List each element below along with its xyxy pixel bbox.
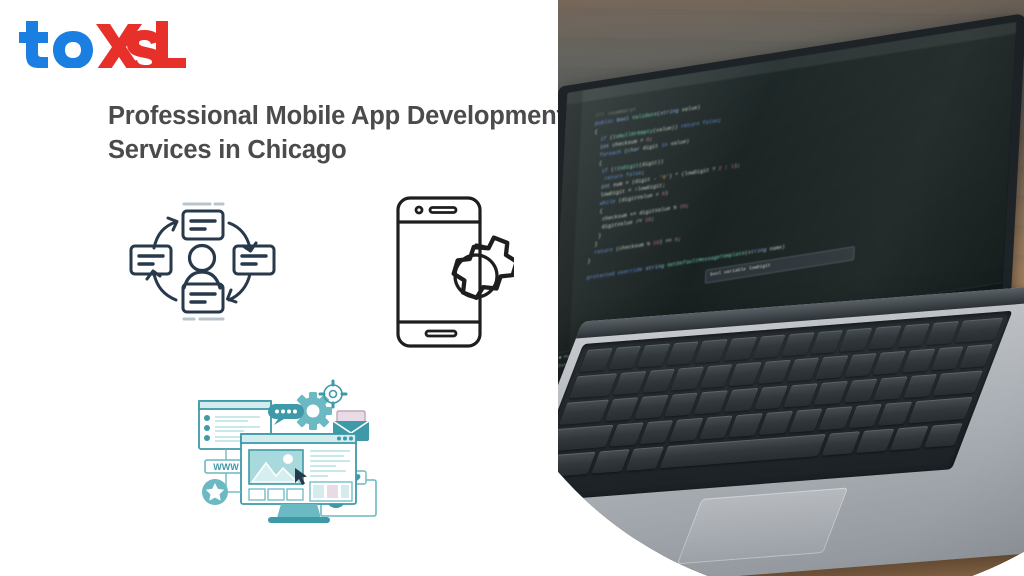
user-feedback-cycle-icon: [126, 196, 278, 324]
page-title-line-2: Services in Chicago: [108, 134, 628, 168]
laptop-device: /// <summary> public bool Validate(strin…: [558, 6, 1024, 576]
key: [878, 402, 912, 426]
key: [890, 426, 929, 451]
cycle-card-top: [183, 211, 223, 239]
keyboard[interactable]: [558, 311, 1013, 503]
key: [558, 425, 614, 452]
cycle-arrow-bottom-right: [228, 274, 251, 302]
toxsl-logo[interactable]: [18, 14, 190, 66]
key: [591, 449, 630, 474]
trackpad[interactable]: [677, 487, 848, 564]
laptop-keyboard-deck: [558, 273, 1024, 576]
cycle-arrow-top-left: [154, 218, 177, 248]
key: [558, 452, 596, 478]
cycle-arrow-top-right: [229, 223, 256, 251]
key: [813, 381, 847, 405]
laptop-coding-photo: /// <summary> public bool Validate(strin…: [558, 0, 1024, 576]
key: [634, 395, 668, 419]
slide-canvas: Professional Mobile App Development Serv…: [0, 0, 1024, 576]
logo-xsl-text: [95, 21, 186, 68]
key: [613, 371, 646, 395]
webdev-star-badge: [202, 479, 228, 505]
page-title: Professional Mobile App Development Serv…: [108, 100, 628, 168]
web-development-illustration: .tk-dark { fill:#3e9aa8; } .tk-mid { fil…: [186, 376, 386, 524]
key: [724, 388, 758, 412]
key: [873, 376, 907, 400]
webdev-www-label: WWW: [213, 462, 239, 472]
key: [933, 370, 983, 395]
key: [610, 422, 644, 446]
cycle-card-right: [234, 246, 274, 274]
logo-to-text: [19, 21, 93, 68]
mobile-app-settings-icon: [390, 192, 514, 352]
key: [855, 429, 894, 454]
key: [960, 344, 993, 368]
cycle-card-left: [131, 246, 171, 274]
gear-icon: [454, 238, 514, 298]
key: [724, 337, 757, 361]
key: [625, 446, 664, 471]
key: [924, 423, 963, 448]
smartphone-icon: [398, 198, 480, 346]
key: [821, 431, 860, 456]
key: [757, 360, 790, 384]
key: [759, 411, 793, 435]
key: [868, 325, 901, 349]
webdev-chart-panel: [310, 482, 352, 501]
key: [955, 318, 1004, 343]
key: [902, 348, 935, 372]
key: [907, 397, 972, 424]
key: [569, 373, 618, 398]
key: [818, 406, 852, 430]
page-title-line-1: Professional Mobile App Development: [108, 100, 628, 134]
key: [579, 348, 612, 372]
photo-circle-clip: /// <summary> public bool Validate(strin…: [558, 0, 1024, 576]
cycle-person-icon: [184, 246, 220, 289]
cycle-card-bottom: [183, 284, 223, 312]
key: [559, 399, 609, 424]
desk-background: /// <summary> public bool Validate(strin…: [558, 0, 1024, 576]
